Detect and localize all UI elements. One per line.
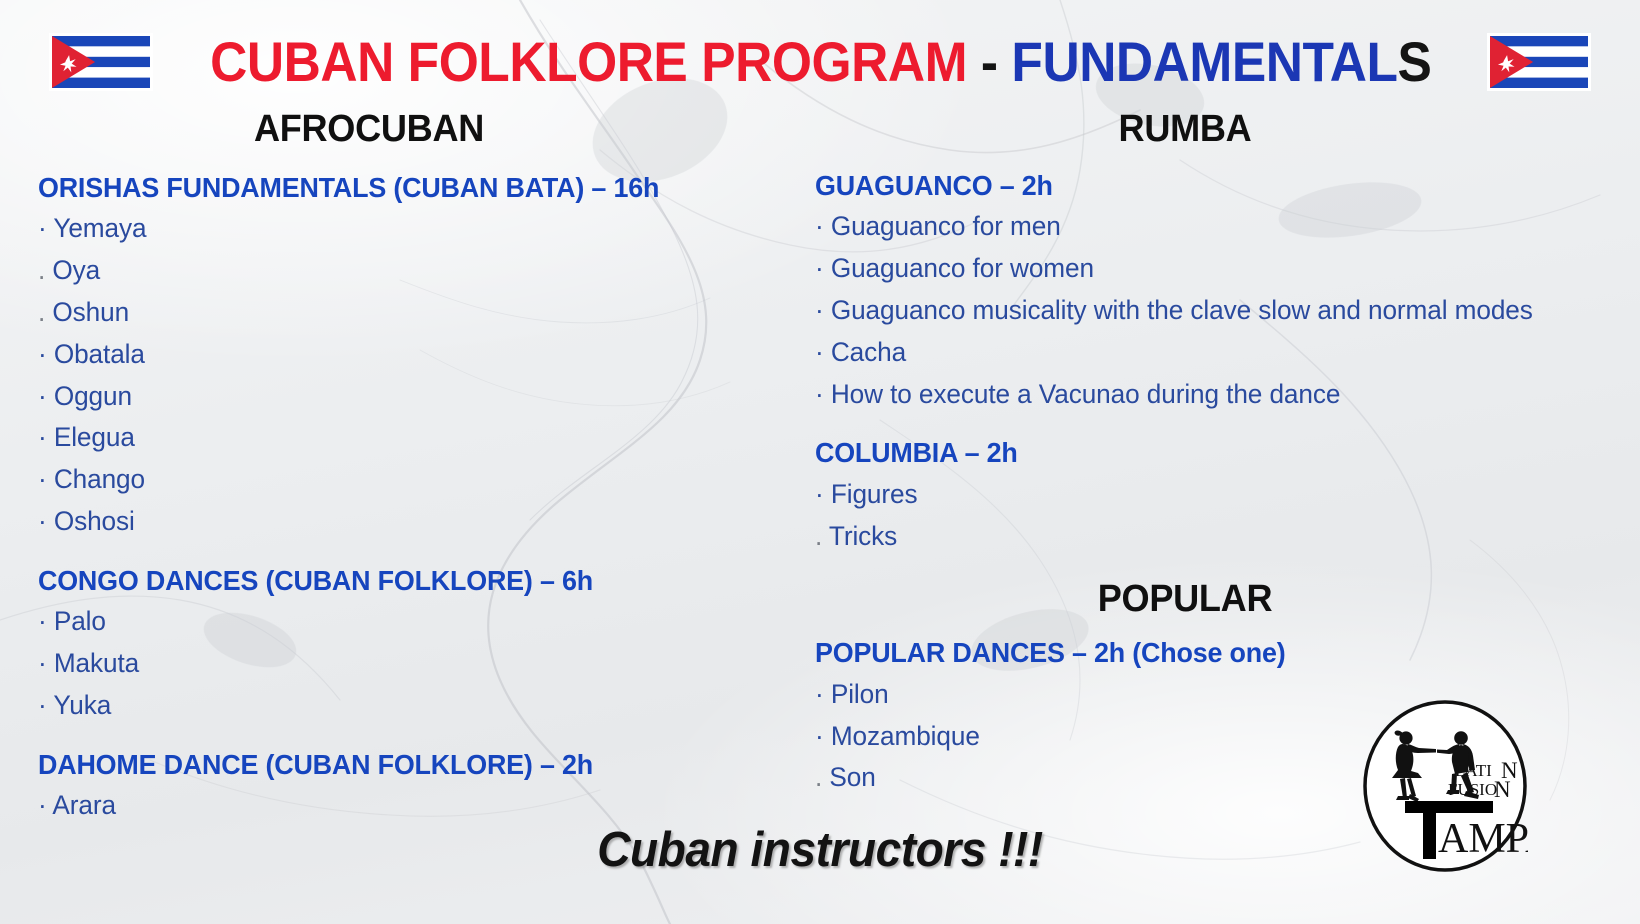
list-item: · Cacha <box>815 332 1591 374</box>
list-item-label: Guaguanco for men <box>824 211 1061 241</box>
title-part-red: CUBAN FOLKLORE PROGRAM <box>210 30 967 93</box>
section-title-rumba: RUMBA <box>777 110 1594 150</box>
list-item-label: Cacha <box>824 337 906 367</box>
list-item: · Yuka <box>38 685 766 727</box>
list-item: · Palo <box>38 601 766 643</box>
group-heading: CONGO DANCES (CUBAN FOLKLORE) – 6h <box>38 565 758 596</box>
list-item: . Oshun <box>38 292 766 334</box>
list-item: · Arara <box>38 785 766 827</box>
column-afrocuban: AFROCUBAN ORISHAS FUNDAMENTALS (CUBAN BA… <box>38 110 788 827</box>
list-item: · Figures <box>815 474 1591 516</box>
list-bullet-icon: · <box>38 690 47 720</box>
logo-t-bar <box>1405 801 1493 813</box>
list-bullet-icon: · <box>38 606 47 636</box>
logo-text-latin: LATI <box>1455 761 1492 780</box>
list-item-label: Elegua <box>47 422 135 452</box>
list-item-label: Mozambique <box>824 721 980 751</box>
list-bullet-icon: · <box>815 679 824 709</box>
logo-text-tampa: AMPA <box>1438 816 1528 862</box>
section-title-popular: POPULAR <box>777 580 1594 620</box>
list-item-label: Tricks <box>822 521 897 551</box>
list-item-label: Oya <box>45 255 100 285</box>
group-heading: ORISHAS FUNDAMENTALS (CUBAN BATA) – 16h <box>38 172 758 203</box>
list-item: · Makuta <box>38 643 766 685</box>
list-bullet-icon: · <box>815 253 824 283</box>
logo-text-fusion-n: N <box>1494 777 1511 802</box>
cuban-flag-icon <box>1487 33 1591 91</box>
list-item-label: Chango <box>47 464 145 494</box>
poster-header: CUBAN FOLKLORE PROGRAM - FUNDAMENTALS <box>0 22 1640 102</box>
list-item-label: Makuta <box>47 648 139 678</box>
list-item-label: Guaguanco musicality with the clave slow… <box>824 295 1533 325</box>
list-item: · Oggun <box>38 376 766 418</box>
list-bullet-icon: · <box>815 211 824 241</box>
latin-fusion-tampa-logo[interactable]: LATI N FUSIO N AMPA <box>1362 700 1528 872</box>
list-item: · Yemaya <box>38 208 766 250</box>
footer-tagline: Cuban instructors !!! <box>49 822 1591 878</box>
list-item-label: Obatala <box>47 339 145 369</box>
list-item-label: Figures <box>824 479 918 509</box>
list-bullet-icon: · <box>815 721 824 751</box>
list-item-label: Son <box>822 762 876 792</box>
group-heading: POPULAR DANCES – 2h (Chose one) <box>815 637 1583 668</box>
list-bullet-icon: · <box>38 213 47 243</box>
list-item-label: Pilon <box>824 679 889 709</box>
title-part-blue: FUNDAMENTAL <box>1012 30 1398 93</box>
list-item-label: Oshosi <box>47 506 135 536</box>
list-item: · Guaguanco musicality with the clave sl… <box>815 290 1591 332</box>
rumba-groups: GUAGUANCO – 2h· Guaguanco for men· Guagu… <box>815 170 1615 558</box>
list-item-label: How to execute a Vacunao during the danc… <box>824 379 1341 409</box>
list-bullet-icon: · <box>38 506 47 536</box>
list-bullet-icon: · <box>38 464 47 494</box>
logo-t-stem <box>1423 801 1436 859</box>
list-bullet-icon: · <box>38 790 47 820</box>
list-bullet-icon: · <box>815 337 824 367</box>
list-item: · Oshosi <box>38 501 766 543</box>
list-bullet-icon: · <box>38 339 47 369</box>
logo-text-fusion: FUSIO <box>1448 780 1497 799</box>
poster-title: CUBAN FOLKLORE PROGRAM - FUNDAMENTALS <box>210 34 1431 90</box>
list-bullet-icon: · <box>815 479 824 509</box>
column-rumba-popular: RUMBA GUAGUANCO – 2h· Guaguanco for men·… <box>815 110 1615 799</box>
list-item: · Guaguanco for women <box>815 248 1591 290</box>
list-bullet-icon: · <box>815 295 824 325</box>
list-item: . Oya <box>38 250 766 292</box>
group-heading: DAHOME DANCE (CUBAN FOLKLORE) – 2h <box>38 749 758 780</box>
list-item-label: Yuka <box>47 690 112 720</box>
list-bullet-icon: · <box>38 381 47 411</box>
list-item-label: Palo <box>47 606 106 636</box>
afrocuban-groups: ORISHAS FUNDAMENTALS (CUBAN BATA) – 16h·… <box>38 172 788 827</box>
poster-root: CUBAN FOLKLORE PROGRAM - FUNDAMENTALS AF… <box>0 0 1640 924</box>
title-part-black: S <box>1398 30 1432 93</box>
list-item-label: Oshun <box>45 297 129 327</box>
section-title-afrocuban: AFROCUBAN <box>0 110 767 150</box>
group-heading: GUAGUANCO – 2h <box>815 170 1583 201</box>
title-separator: - <box>967 30 1011 93</box>
list-item-label: Guaguanco for women <box>824 253 1094 283</box>
cuban-flag-svg <box>52 36 150 88</box>
cuban-flag-icon <box>49 33 153 91</box>
group-heading: COLUMBIA – 2h <box>815 437 1583 468</box>
list-bullet-icon: · <box>815 379 824 409</box>
list-item-label: Arara <box>47 790 116 820</box>
cuban-flag-svg <box>1490 36 1588 88</box>
list-item-label: Yemaya <box>47 213 147 243</box>
list-item: · How to execute a Vacunao during the da… <box>815 374 1591 416</box>
list-bullet-icon: · <box>38 648 47 678</box>
list-item: . Tricks <box>815 516 1591 558</box>
list-item-label: Oggun <box>47 381 132 411</box>
list-item: · Guaguanco for men <box>815 206 1591 248</box>
logo-svg: LATI N FUSIO N AMPA <box>1362 700 1528 872</box>
list-item: · Chango <box>38 459 766 501</box>
list-item: · Elegua <box>38 417 766 459</box>
list-bullet-icon: · <box>38 422 47 452</box>
list-item: · Obatala <box>38 334 766 376</box>
